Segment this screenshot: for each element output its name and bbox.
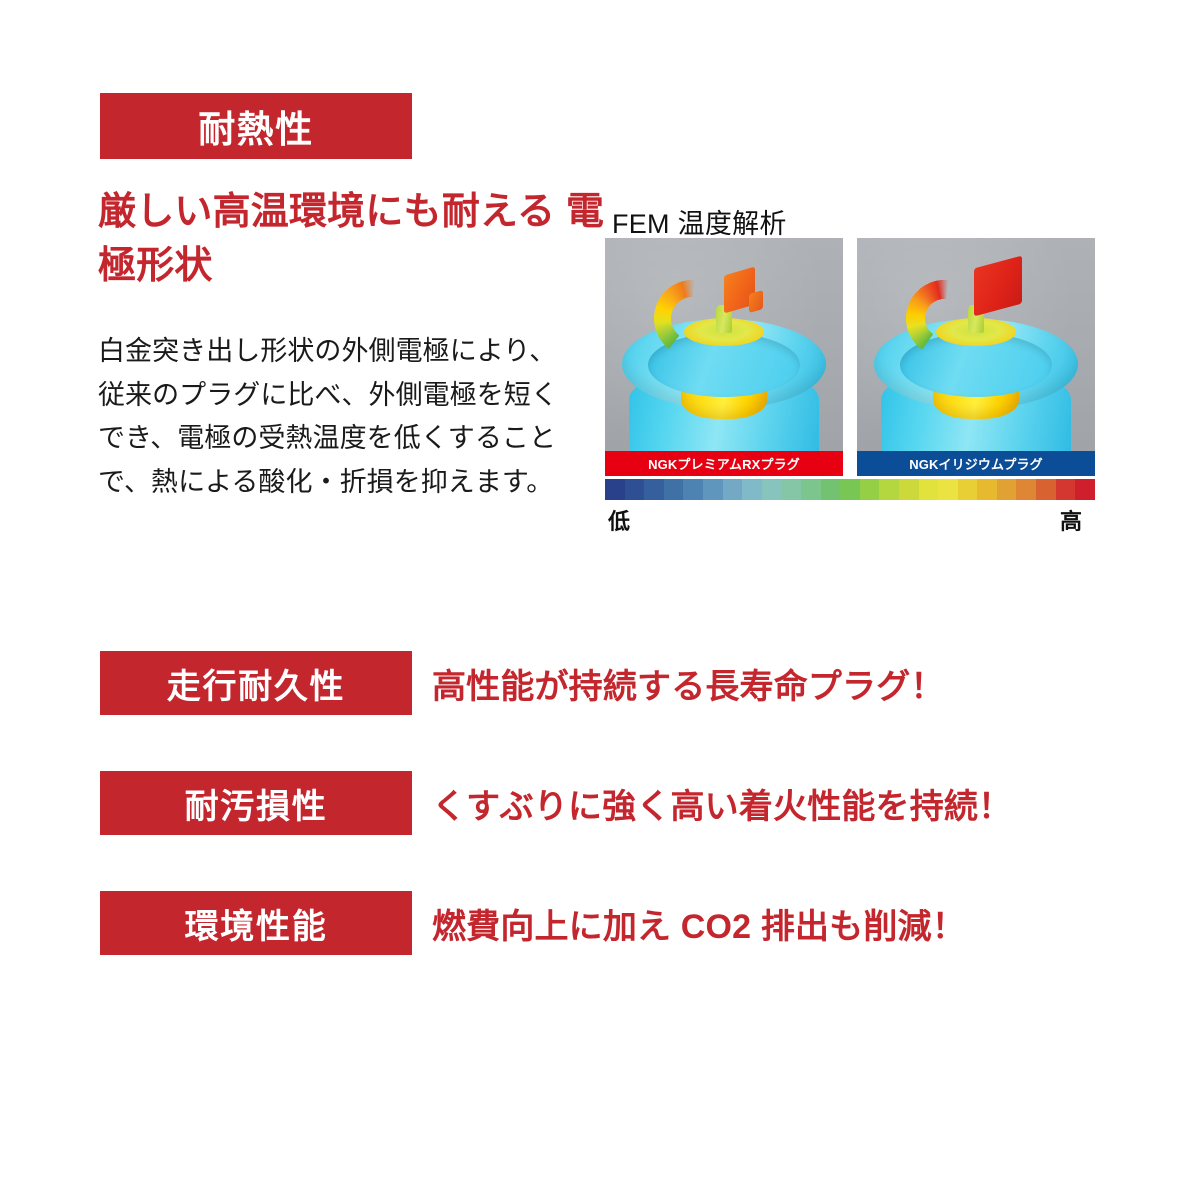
temperature-scale-swatch-8 xyxy=(762,479,782,500)
temperature-scale-swatch-13 xyxy=(860,479,880,500)
feature-text-fouling-resistance: くすぶりに強く高い着火性能を持続！ xyxy=(432,771,1012,835)
temperature-scale-low-label: 低 xyxy=(608,504,630,536)
badge-fouling-resistance-label: 耐汚損性 xyxy=(185,779,328,828)
fem-analysis-label: FEM 温度解析 xyxy=(612,202,787,241)
temperature-scale-swatch-18 xyxy=(958,479,978,500)
badge-driving-durability-label: 走行耐久性 xyxy=(167,659,346,708)
temperature-scale-swatch-17 xyxy=(938,479,958,500)
heat-body-line2: 従来のプラグに比べ、外側電極を短く xyxy=(98,374,598,418)
temperature-scale-swatch-9 xyxy=(781,479,801,500)
temperature-scale-swatch-3 xyxy=(664,479,684,500)
fem-caption-iridium: NGKイリジウムプラグ xyxy=(857,451,1095,476)
heat-subtitle-line1: 厳しい高温環境にも耐える xyxy=(98,191,555,233)
feature-text-environmental-performance: 燃費向上に加え CO2 排出も削減！ xyxy=(432,891,966,955)
temperature-scale-swatch-12 xyxy=(840,479,860,500)
heat-body-line3: でき、電極の受熱温度を低くすること xyxy=(98,417,598,461)
temperature-scale-swatch-10 xyxy=(801,479,821,500)
temperature-color-scale xyxy=(605,479,1095,500)
temperature-scale-swatch-20 xyxy=(997,479,1017,500)
fem-panel-iridium: NGKイリジウムプラグ xyxy=(857,238,1095,476)
badge-heat-resistance: 耐熱性 xyxy=(100,93,412,159)
temperature-scale-swatch-11 xyxy=(821,479,841,500)
fem-caption-premium-rx-label: NGKプレミアムRXプラグ xyxy=(648,454,800,473)
temperature-scale-high-label: 高 xyxy=(1060,504,1082,536)
temperature-scale-swatch-4 xyxy=(683,479,703,500)
temperature-scale-swatch-2 xyxy=(644,479,664,500)
temperature-scale-swatch-19 xyxy=(977,479,997,500)
temperature-scale-swatch-1 xyxy=(625,479,645,500)
temperature-scale-swatch-21 xyxy=(1016,479,1036,500)
heat-subtitle: 厳しい高温環境にも耐える 電極形状 xyxy=(98,186,618,294)
temperature-scale-swatch-6 xyxy=(723,479,743,500)
fem-caption-iridium-label: NGKイリジウムプラグ xyxy=(909,454,1043,473)
heat-body-line4: で、熱による酸化・折損を抑えます。 xyxy=(98,461,598,505)
temperature-scale-swatch-0 xyxy=(605,479,625,500)
fem-stage-background xyxy=(857,238,1095,476)
badge-fouling-resistance: 耐汚損性 xyxy=(100,771,412,835)
temperature-scale-swatch-7 xyxy=(742,479,762,500)
badge-driving-durability: 走行耐久性 xyxy=(100,651,412,715)
heat-body-line1: 白金突き出し形状の外側電極により、 xyxy=(98,330,598,374)
temperature-scale-swatch-15 xyxy=(899,479,919,500)
feature-text-driving-durability: 高性能が持続する長寿命プラグ！ xyxy=(432,651,945,715)
fem-panel-premium-rx: NGKプレミアムRXプラグ xyxy=(605,238,843,476)
temperature-scale-swatch-24 xyxy=(1075,479,1095,500)
heat-body-text: 白金突き出し形状の外側電極により、 従来のプラグに比べ、外側電極を短く でき、電… xyxy=(98,330,598,505)
badge-heat-resistance-label: 耐熱性 xyxy=(198,99,313,153)
ground-electrode-platinum-chip xyxy=(749,290,763,313)
badge-environmental-performance-label: 環境性能 xyxy=(185,899,328,948)
temperature-scale-swatch-14 xyxy=(879,479,899,500)
temperature-scale-swatch-5 xyxy=(703,479,723,500)
temperature-scale-swatch-22 xyxy=(1036,479,1056,500)
temperature-scale-swatch-16 xyxy=(919,479,939,500)
fem-caption-premium-rx: NGKプレミアムRXプラグ xyxy=(605,451,843,476)
fem-stage-background xyxy=(605,238,843,476)
badge-environmental-performance: 環境性能 xyxy=(100,891,412,955)
ground-electrode-tip xyxy=(974,255,1022,315)
temperature-scale-swatch-23 xyxy=(1056,479,1076,500)
